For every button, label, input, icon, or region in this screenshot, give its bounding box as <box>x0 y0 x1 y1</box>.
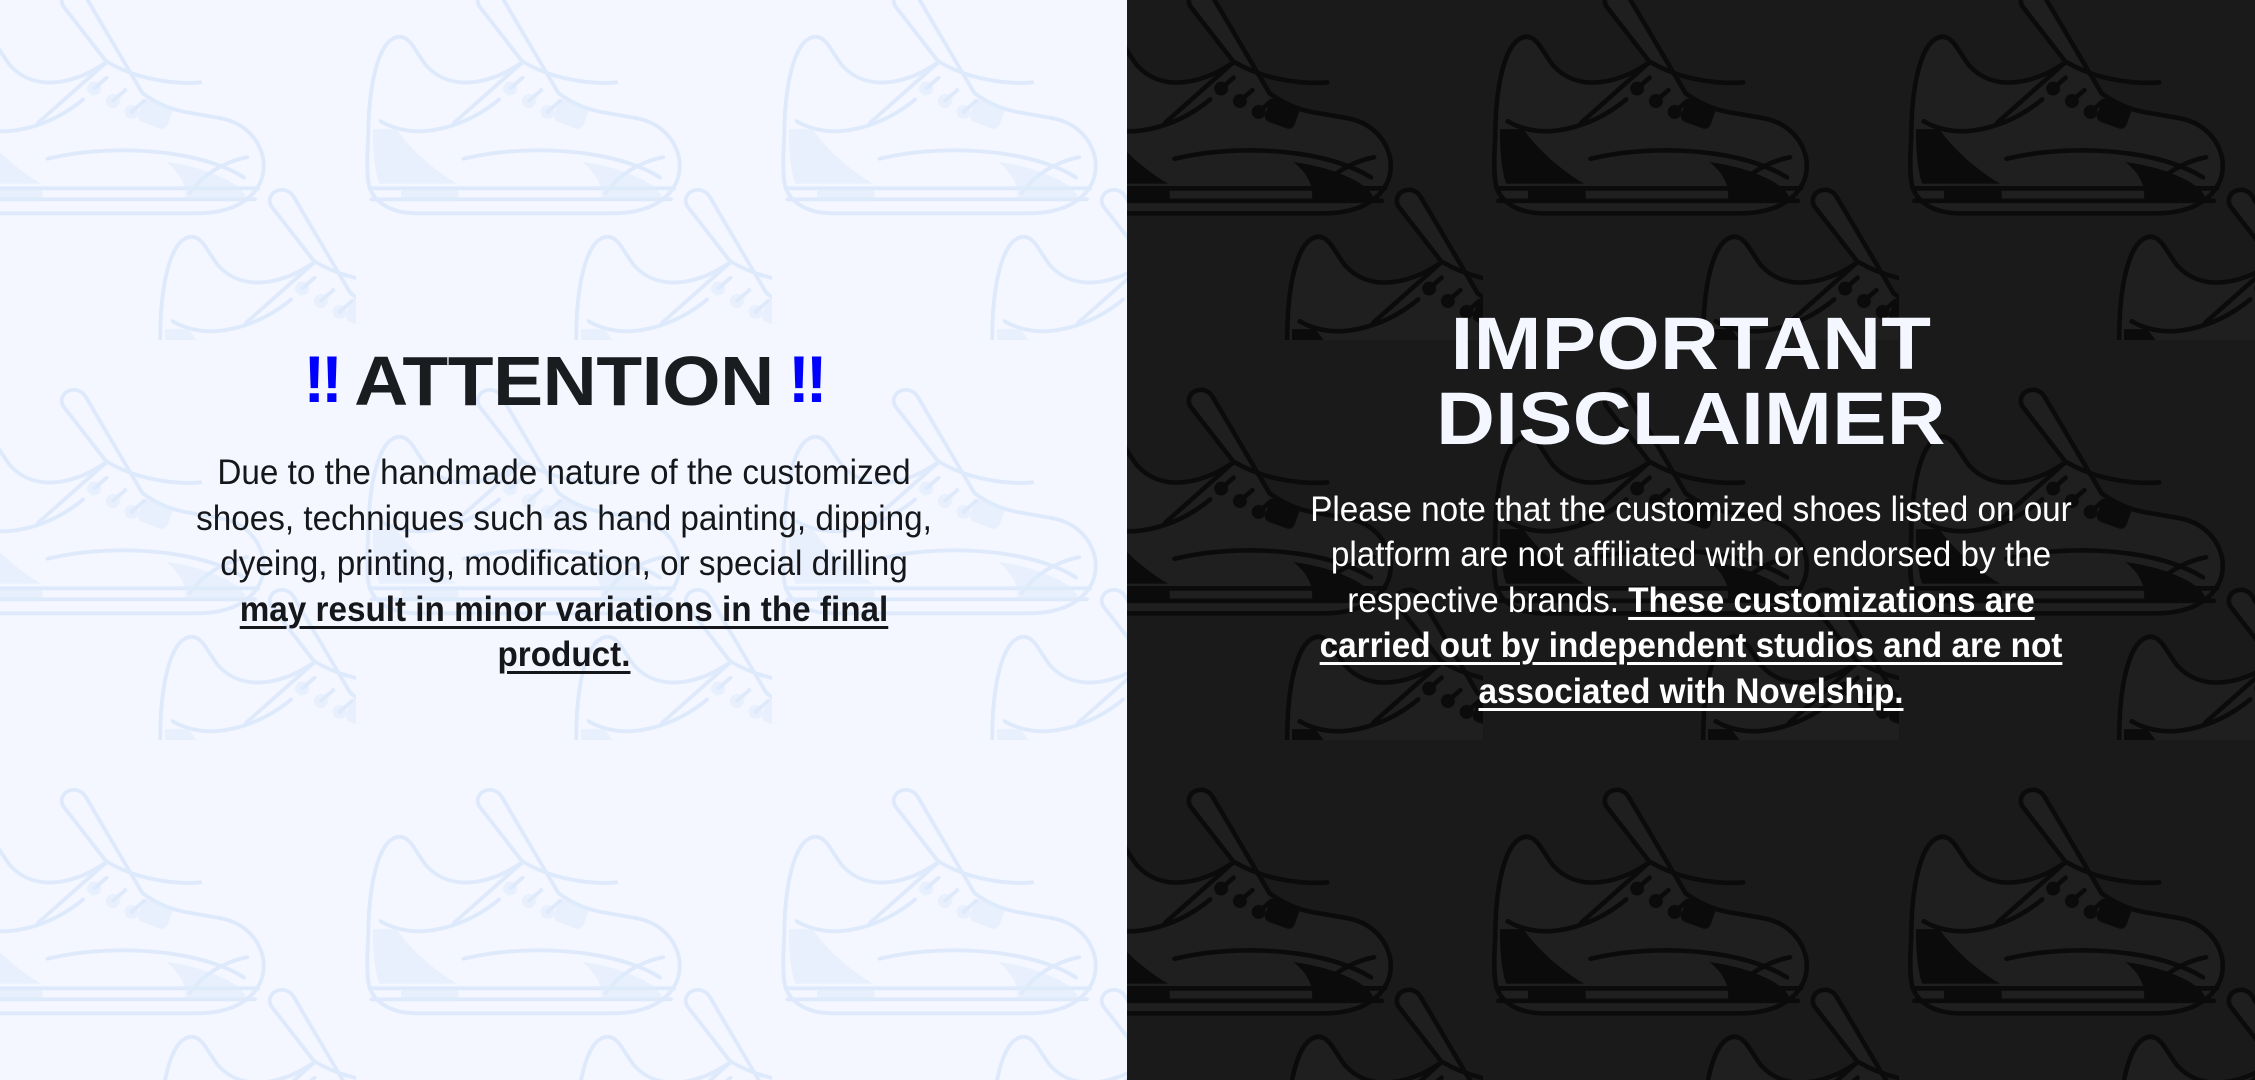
attention-heading: ‼ATTENTION‼ <box>114 346 1013 416</box>
disclaimer-heading-line1: IMPORTANT <box>1229 306 2153 381</box>
attention-panel: ‼ATTENTION‼ Due to the handmade nature o… <box>0 0 1127 1080</box>
disclaimer-heading: IMPORTANT DISCLAIMER <box>1229 306 2153 457</box>
disclaimer-content: IMPORTANT DISCLAIMER Please note that th… <box>1271 306 2111 714</box>
split-banner: ‼ATTENTION‼ Due to the handmade nature o… <box>0 0 2255 1080</box>
disclaimer-heading-line2: DISCLAIMER <box>1229 381 2153 456</box>
attention-body-plain: Due to the handmade nature of the custom… <box>196 453 932 583</box>
disclaimer-body: Please note that the customized shoes li… <box>1306 487 2076 715</box>
disclaimer-panel: IMPORTANT DISCLAIMER Please note that th… <box>1127 0 2255 1080</box>
double-exclamation-left-icon: ‼ <box>303 346 340 412</box>
double-exclamation-right-icon: ‼ <box>788 346 825 412</box>
attention-heading-text: ATTENTION <box>341 346 786 416</box>
attention-body-emphasis: may result in minor variations in the fi… <box>239 590 888 675</box>
attention-content: ‼ATTENTION‼ Due to the handmade nature o… <box>144 346 984 678</box>
attention-body: Due to the handmade nature of the custom… <box>184 450 944 678</box>
